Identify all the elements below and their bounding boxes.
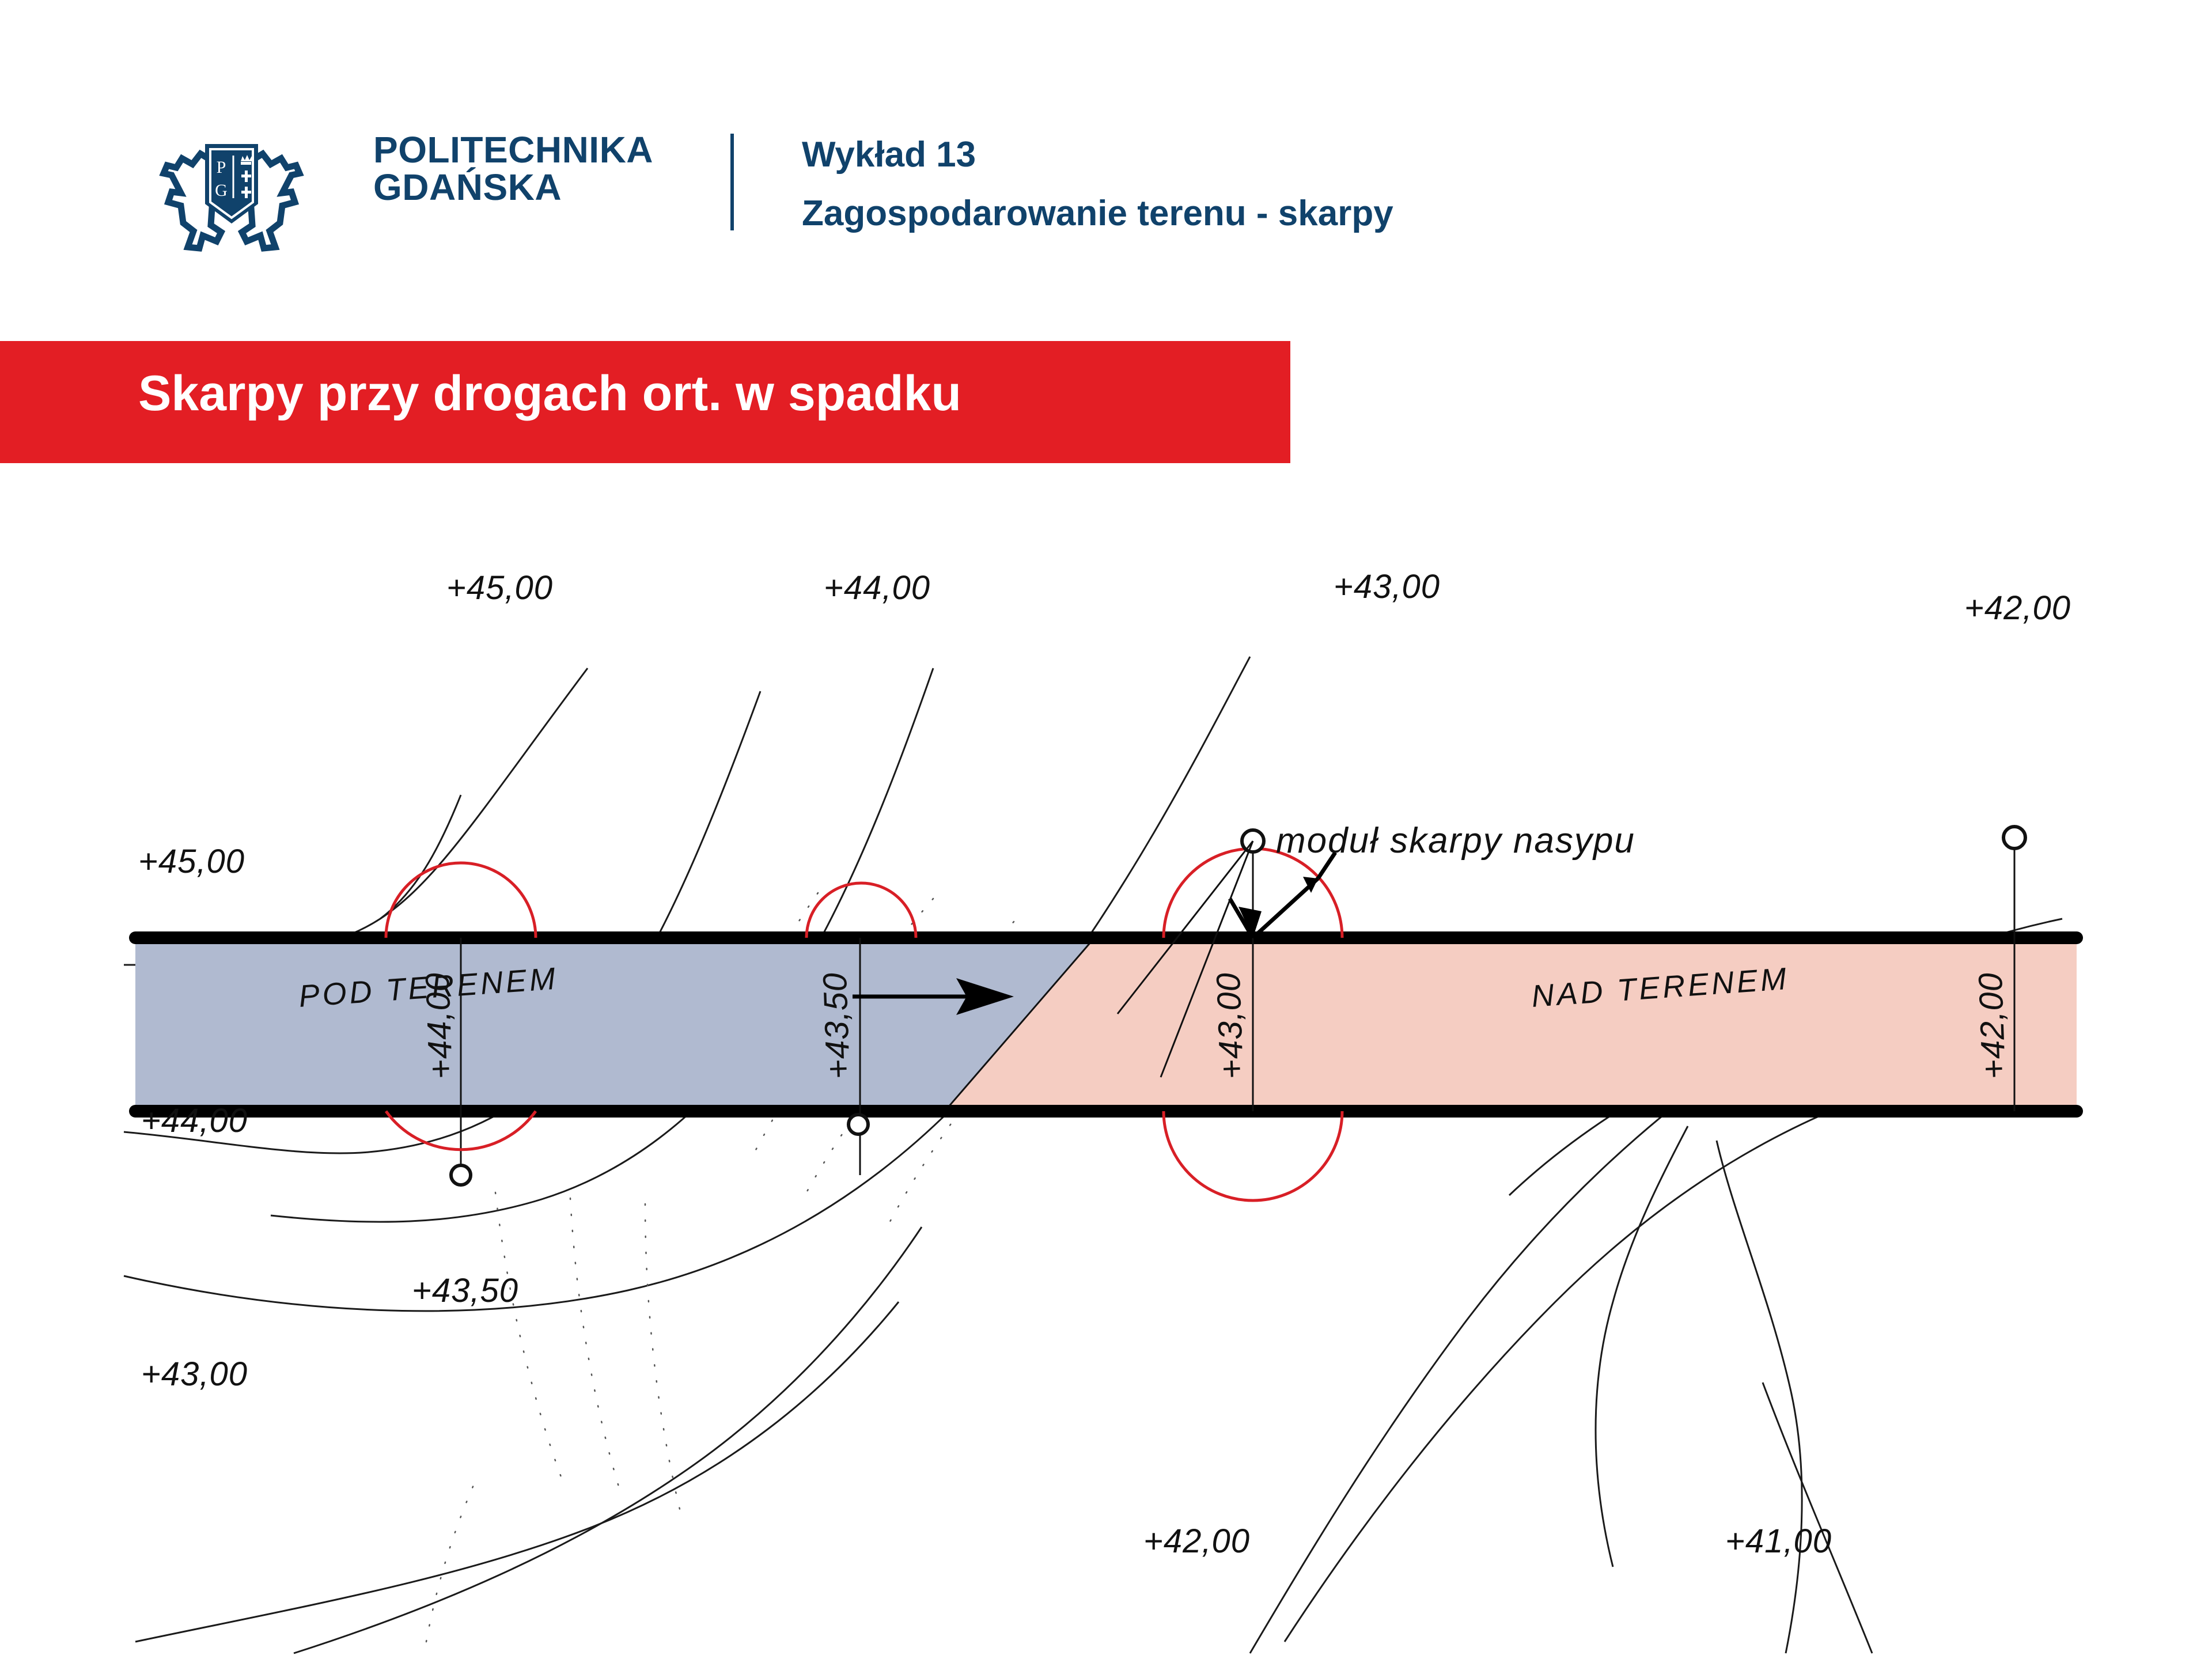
marker-point (451, 1165, 471, 1185)
header-title-block: Wykład 13 Zagospodarowanie terenu - skar… (802, 137, 1393, 232)
slide-header: P G POLITECHNIKA GDAŃSKA Wykład 13 Zagos… (0, 0, 2212, 323)
contour-label-left-4350: +43,50 (412, 1272, 518, 1309)
header-divider (730, 134, 734, 230)
contour-label-top-4500: +45,00 (446, 569, 553, 607)
marker-point (2003, 827, 2025, 849)
contour-label-left-4400: +44,00 (141, 1102, 248, 1139)
university-name-line2: GDAŃSKA (373, 169, 719, 206)
road-zone-pod-terenem (135, 938, 1094, 1111)
marker-point (849, 1115, 868, 1134)
chainage-label-4300: +43,00 (1210, 972, 1251, 1080)
module-annotation-label: moduł skarpy nasypu (1276, 821, 1635, 861)
road-zone-nad-terenem (945, 938, 2077, 1111)
terrain-slope-diagram: POD TERENEM NAD TERENEM +44,00 +43,50 +4… (0, 495, 2212, 1659)
contour-label-top-4200: +42,00 (1964, 589, 2071, 627)
contour-label-left-4500: +45,00 (138, 843, 245, 880)
contour-label-top-4400: +44,00 (824, 569, 930, 607)
contour-label-bottom-4100: +41,00 (1725, 1522, 1832, 1560)
chainage-label-4200: +42,00 (1972, 972, 2013, 1080)
contour-label-top-4300: +43,00 (1334, 568, 1440, 605)
politechnika-gdanska-logo: P G (134, 126, 329, 258)
contour-label-bottom-4200: +42,00 (1143, 1522, 1250, 1560)
svg-text:G: G (215, 181, 228, 200)
svg-text:P: P (217, 158, 226, 177)
university-name-line1: POLITECHNIKA (373, 131, 719, 169)
contour-label-left-4300: +43,00 (141, 1355, 248, 1393)
terrain-contour-lines (124, 657, 2062, 1653)
lecture-number: Wykład 13 (802, 137, 1393, 173)
chainage-label-4400: +44,00 (419, 972, 460, 1080)
university-wordmark: POLITECHNIKA GDAŃSKA (373, 131, 719, 207)
chainage-label-4350: +43,50 (816, 972, 857, 1080)
slide-title: Skarpy przy drogach ort. w spadku (138, 369, 961, 418)
lecture-subject: Zagospodarowanie terenu - skarpy (802, 196, 1393, 232)
